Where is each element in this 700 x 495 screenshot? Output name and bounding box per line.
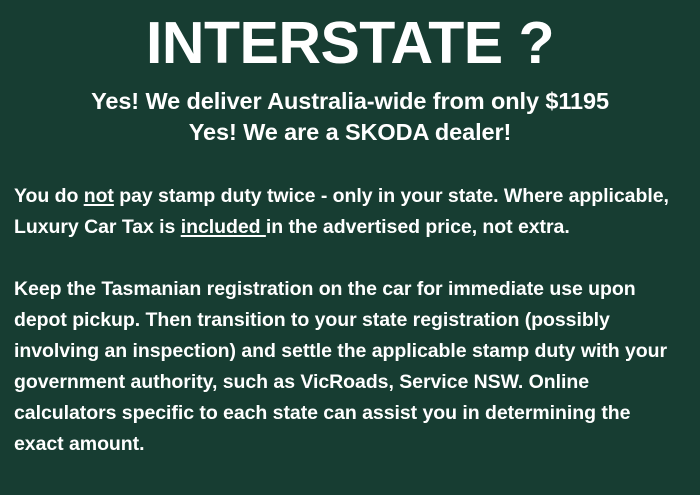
subheadline-delivery: Yes! We deliver Australia-wide from only… <box>0 86 700 117</box>
paragraph-stamp-duty-segment-1: You do <box>14 185 84 207</box>
body-copy: You do not pay stamp duty twice - only i… <box>14 181 678 460</box>
subheadline-group: Yes! We deliver Australia-wide from only… <box>0 86 700 148</box>
paragraph-stamp-duty-emphasis-not: not <box>84 185 114 207</box>
paragraph-stamp-duty-segment-3: in the advertised price, not extra. <box>266 216 570 238</box>
subheadline-dealer: Yes! We are a SKODA dealer! <box>0 117 700 148</box>
interstate-delivery-promo-panel: INTERSTATE ? Yes! We deliver Australia-w… <box>0 0 700 495</box>
page-title: INTERSTATE ? <box>0 10 700 76</box>
paragraph-stamp-duty: You do not pay stamp duty twice - only i… <box>14 181 678 243</box>
paragraph-spacer <box>14 243 678 274</box>
paragraph-stamp-duty-emphasis-included: included <box>181 216 266 238</box>
paragraph-registration: Keep the Tasmanian registration on the c… <box>14 274 678 460</box>
